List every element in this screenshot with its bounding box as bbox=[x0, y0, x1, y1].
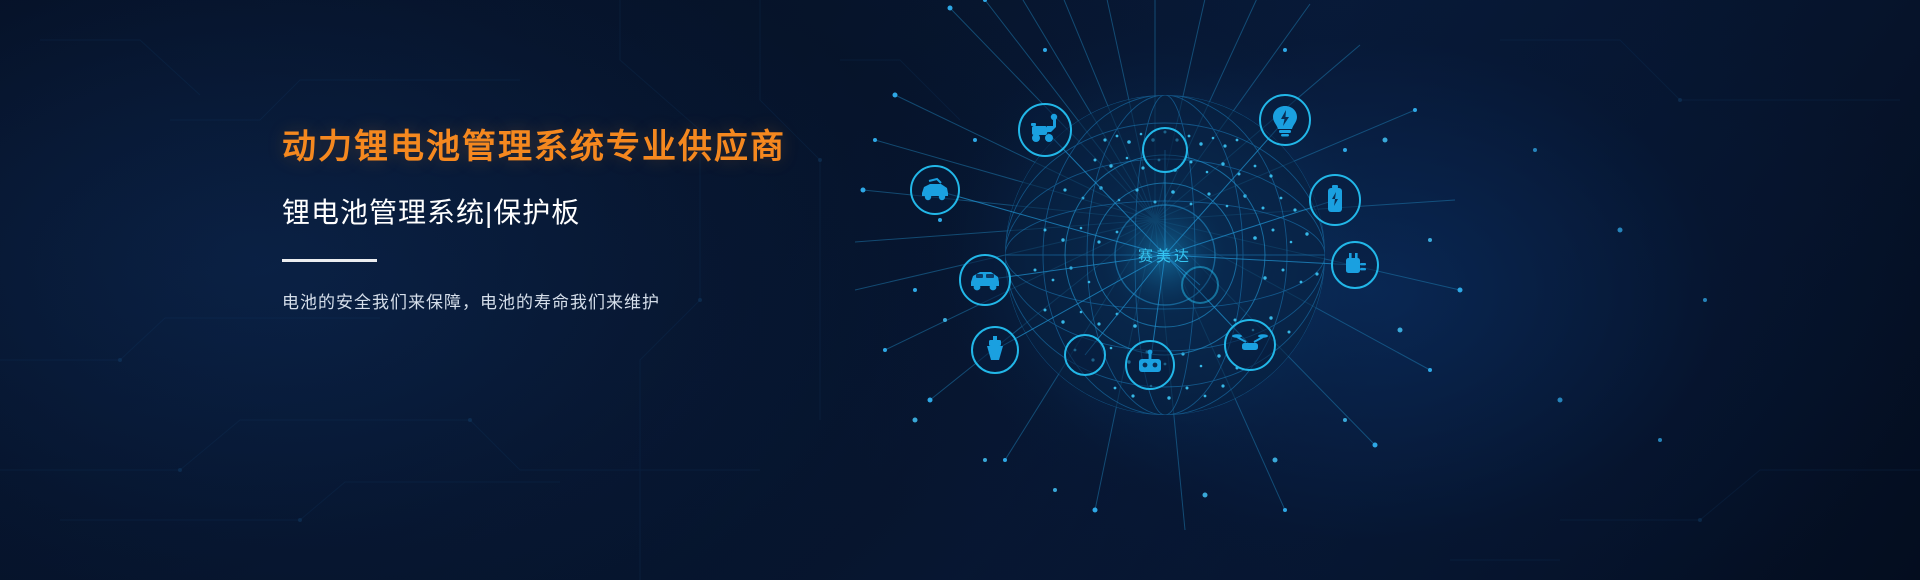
node-robot[interactable] bbox=[1126, 341, 1174, 389]
node-car-mid[interactable] bbox=[960, 255, 1010, 305]
node-forklift[interactable] bbox=[1182, 267, 1218, 303]
banner-tagline: 电池的安全我们来保障，电池的寿命我们来维护 bbox=[282, 288, 922, 313]
node-scooter[interactable] bbox=[1019, 104, 1071, 156]
divider-rule bbox=[282, 259, 377, 262]
battery-icon bbox=[1328, 185, 1342, 212]
node-lightbulb[interactable] bbox=[1260, 95, 1310, 145]
node-empty-lower[interactable] bbox=[1065, 335, 1105, 375]
hero-banner: 动力锂电池管理系统专业供应商 锂电池管理系统|保护板 电池的安全我们来保障，电池… bbox=[0, 0, 1920, 580]
banner-headline: 动力锂电池管理系统专业供应商 bbox=[282, 126, 922, 169]
node-plug[interactable] bbox=[1332, 242, 1378, 288]
node-car-left[interactable] bbox=[911, 166, 959, 214]
globe-center-brand: 赛美达 bbox=[1138, 248, 1192, 265]
node-drone[interactable] bbox=[1225, 320, 1275, 370]
right-sparkles bbox=[1500, 0, 1920, 580]
node-battery[interactable] bbox=[1310, 175, 1360, 225]
node-tool[interactable] bbox=[972, 327, 1018, 373]
banner-subhead: 锂电池管理系统|保护板 bbox=[282, 195, 922, 231]
empty-node-circle bbox=[1143, 128, 1187, 172]
banner-copy: 动力锂电池管理系统专业供应商 锂电池管理系统|保护板 电池的安全我们来保障，电池… bbox=[282, 126, 922, 313]
empty-lower-node-circle bbox=[1065, 335, 1105, 375]
node-empty[interactable] bbox=[1143, 128, 1187, 172]
forklift-node-circle bbox=[1182, 267, 1218, 303]
globe-network-graphic: 赛美达 bbox=[855, 0, 1475, 580]
